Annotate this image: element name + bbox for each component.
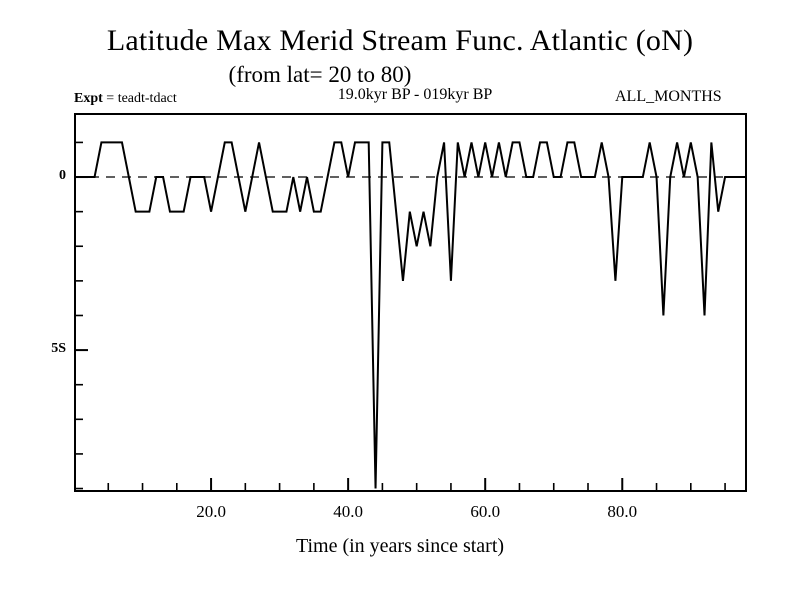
plot-canvas — [74, 113, 747, 492]
plot-page: Latitude Max Merid Stream Func. Atlantic… — [0, 0, 800, 600]
x-tick-label: 60.0 — [450, 502, 520, 522]
x-tick-label: 80.0 — [587, 502, 657, 522]
page-title: Latitude Max Merid Stream Func. Atlantic… — [0, 24, 800, 58]
y-tick-label: 0 — [26, 168, 66, 184]
y-tick-label: 5S — [26, 341, 66, 357]
x-tick-label: 20.0 — [176, 502, 246, 522]
y-axis-ticks — [74, 142, 88, 488]
data-series-line — [74, 142, 746, 488]
months-label: ALL_MONTHS — [615, 88, 722, 106]
x-tick-label: 40.0 — [313, 502, 383, 522]
page-subtitle: (from lat= 20 to 80) — [0, 62, 640, 88]
x-axis-title: Time (in years since start) — [0, 535, 800, 558]
x-axis-ticks — [108, 478, 725, 492]
